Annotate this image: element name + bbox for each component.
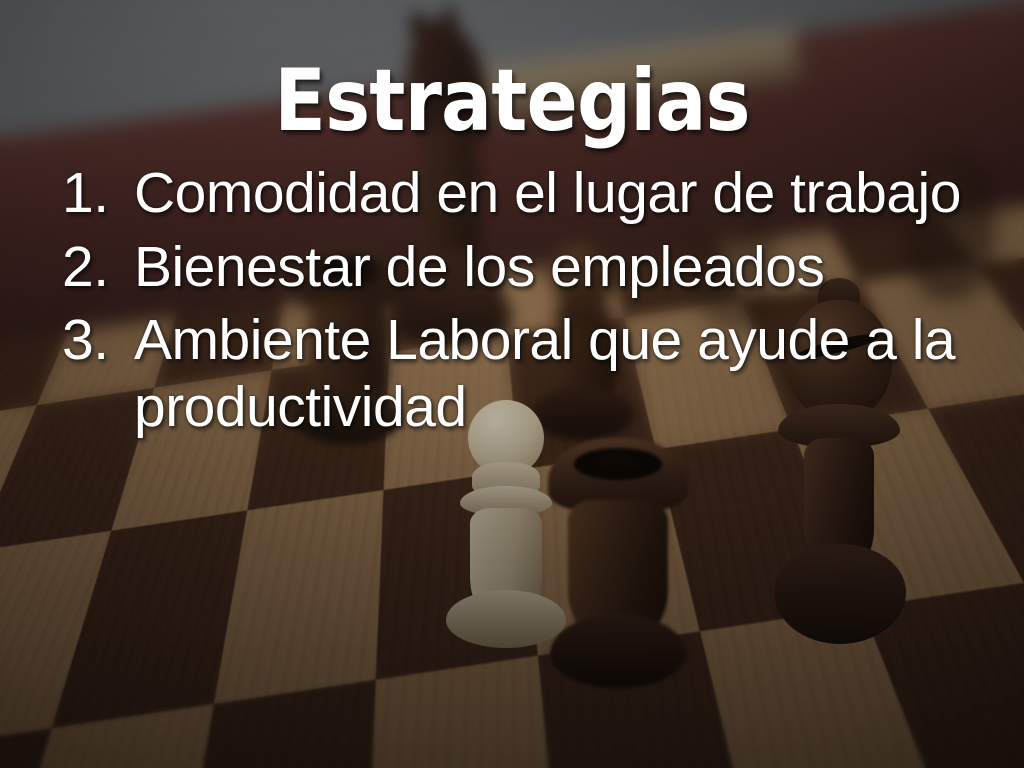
list-item: 1. Comodidad en el lugar de trabajo xyxy=(62,160,988,227)
slide-title: Estrategias xyxy=(61,58,962,144)
list-item-number: 3. xyxy=(62,307,126,374)
presentation-slide: Estrategias 1. Comodidad en el lugar de … xyxy=(0,0,1024,768)
list-item-number: 2. xyxy=(62,234,126,301)
slide-content: Estrategias 1. Comodidad en el lugar de … xyxy=(0,0,1024,768)
list-item: 2. Bienestar de los empleados xyxy=(62,234,988,301)
strategy-list: 1. Comodidad en el lugar de trabajo 2. B… xyxy=(62,160,988,448)
list-item-number: 1. xyxy=(62,160,126,227)
list-item-text: Bienestar de los empleados xyxy=(134,235,824,299)
list-item: 3. Ambiente Laboral que ayude a la produ… xyxy=(62,307,988,440)
list-item-text: Comodidad en el lugar de trabajo xyxy=(134,161,961,225)
list-item-text: Ambiente Laboral que ayude a la producti… xyxy=(134,308,955,439)
